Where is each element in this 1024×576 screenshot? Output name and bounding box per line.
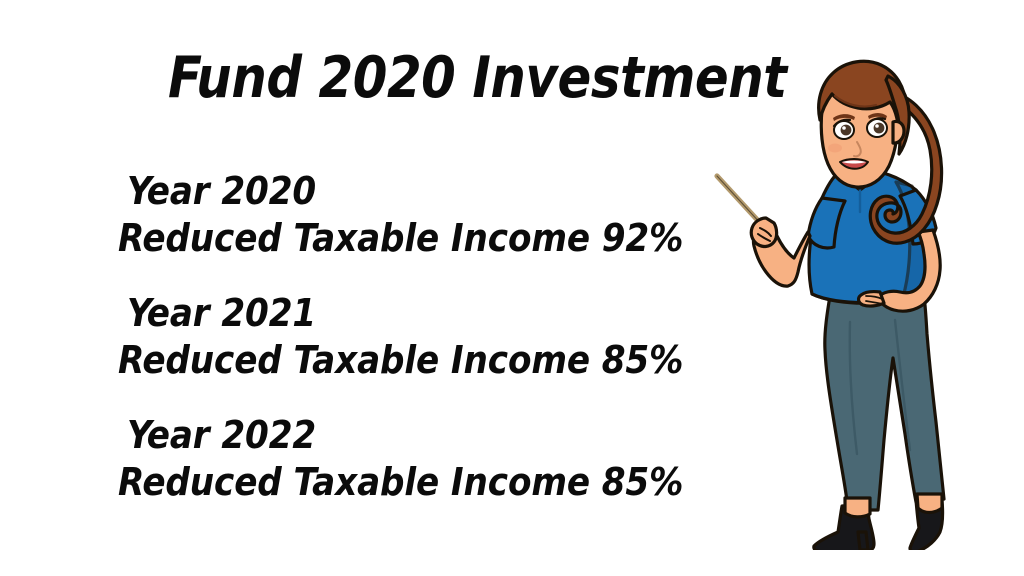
year-detail: Reduced Taxable Income 92% — [118, 215, 718, 262]
year-detail: Reduced Taxable Income 85% — [118, 459, 718, 506]
year-label: Year 2021 — [118, 290, 718, 337]
year-block-list: Year 2020 Reduced Taxable Income 92% Yea… — [118, 168, 718, 506]
year-detail: Reduced Taxable Income 85% — [118, 337, 718, 384]
ear — [893, 121, 904, 143]
presentation-slide: Fund 2020 Investment Year 2020 Reduced T… — [0, 0, 1024, 576]
year-block: Year 2022 Reduced Taxable Income 85% — [118, 412, 718, 506]
female-presenter-graphic — [690, 58, 1024, 550]
year-label: Year 2022 — [118, 412, 718, 459]
year-block: Year 2021 Reduced Taxable Income 85% — [118, 290, 718, 384]
year-block: Year 2020 Reduced Taxable Income 92% — [118, 168, 718, 262]
presenter-illustration — [690, 58, 1024, 550]
pointer-stick-icon — [717, 176, 762, 225]
year-label: Year 2020 — [118, 168, 718, 215]
trousers — [825, 288, 944, 510]
pointing-arm — [751, 218, 810, 286]
